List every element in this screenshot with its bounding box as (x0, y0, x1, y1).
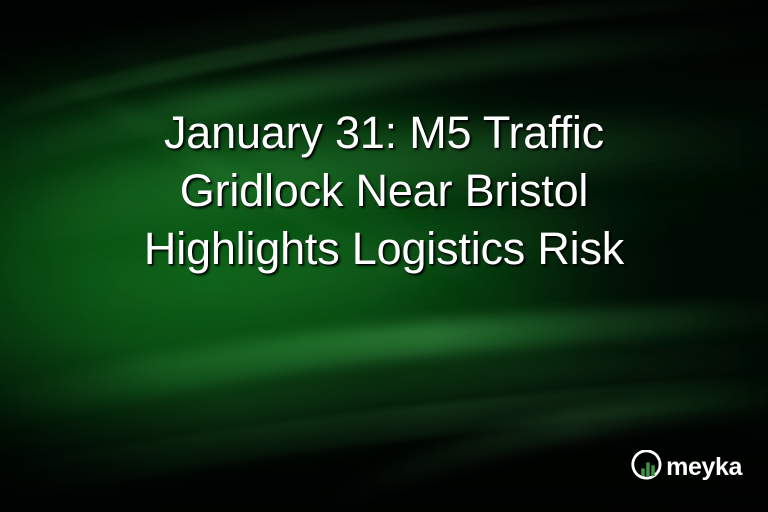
headline-line-2: Gridlock Near Bristol (58, 162, 710, 220)
meyka-wordmark: meyka (666, 455, 742, 480)
bottom-shade-band (0, 337, 768, 512)
news-card: January 31: M5 Traffic Gridlock Near Bri… (0, 0, 768, 512)
headline-title: January 31: M5 Traffic Gridlock Near Bri… (0, 104, 768, 278)
meyka-circle-bar-chart-icon (631, 450, 665, 484)
headline-line-1: January 31: M5 Traffic (58, 104, 710, 162)
headline-line-3: Highlights Logistics Risk (58, 220, 710, 278)
meyka-logo[interactable]: meyka (631, 450, 742, 484)
